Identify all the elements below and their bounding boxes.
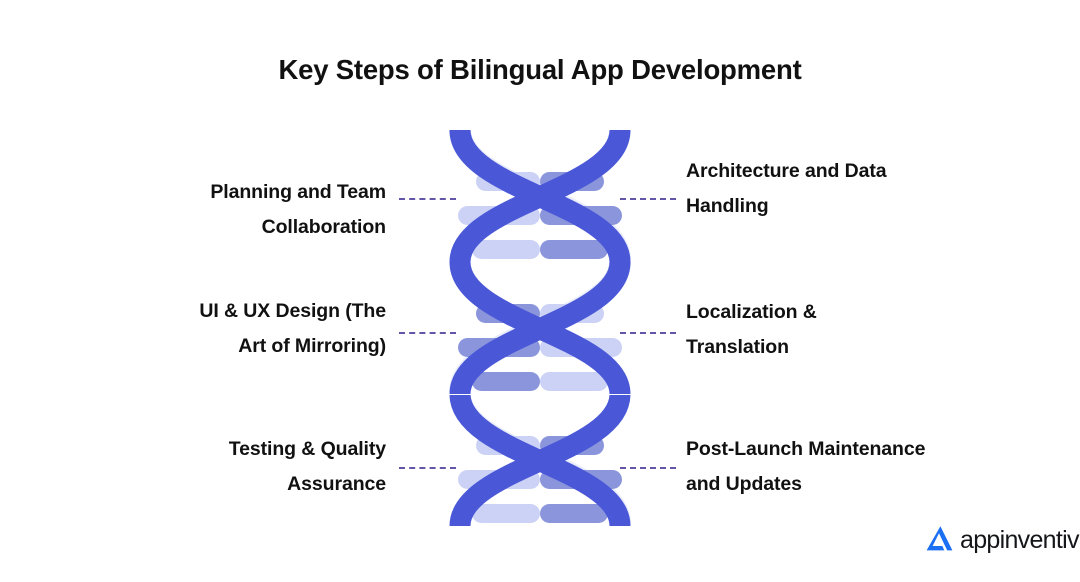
step-label-architecture-and-data-handling: Architecture and Data Handling (686, 154, 1016, 223)
connector-left-2 (399, 332, 456, 334)
step-label-planning-and-team-collaboration: Planning and Team Collaboration (86, 175, 386, 244)
step-label-line2: Handling (686, 189, 1016, 224)
helix-section-3 (458, 394, 622, 526)
step-label-line1: UI & UX Design (The (86, 294, 386, 329)
appinventiv-logo: appinventiv (925, 523, 1079, 558)
triangle-a-icon (925, 523, 955, 558)
infographic-canvas: Key Steps of Bilingual App Development (0, 0, 1080, 582)
helix-section-2 (458, 262, 622, 394)
page-title: Key Steps of Bilingual App Development (0, 53, 1080, 86)
connector-left-1 (399, 198, 456, 200)
step-label-line2: and Updates (686, 467, 1016, 502)
step-label-line2: Assurance (86, 467, 386, 502)
step-label-post-launch-maintenance-and-updates: Post-Launch Maintenance and Updates (686, 432, 1016, 501)
step-label-testing-and-quality-assurance: Testing & Quality Assurance (86, 432, 386, 501)
helix-section-1 (458, 130, 622, 262)
step-label-ui-ux-design: UI & UX Design (The Art of Mirroring) (86, 294, 386, 363)
step-label-line1: Localization & (686, 295, 1016, 330)
logo-text: appinventiv (960, 528, 1079, 553)
step-label-line2: Art of Mirroring) (86, 329, 386, 364)
step-label-localization-and-translation: Localization & Translation (686, 295, 1016, 364)
step-label-line1: Planning and Team (86, 175, 386, 210)
step-label-line1: Post-Launch Maintenance (686, 432, 1016, 467)
connector-right-1 (620, 198, 676, 200)
connector-right-3 (620, 467, 676, 469)
step-label-line1: Testing & Quality (86, 432, 386, 467)
step-label-line1: Architecture and Data (686, 154, 1016, 189)
step-label-line2: Collaboration (86, 210, 386, 245)
connector-right-2 (620, 332, 676, 334)
connector-left-3 (399, 467, 456, 469)
step-label-line2: Translation (686, 330, 1016, 365)
